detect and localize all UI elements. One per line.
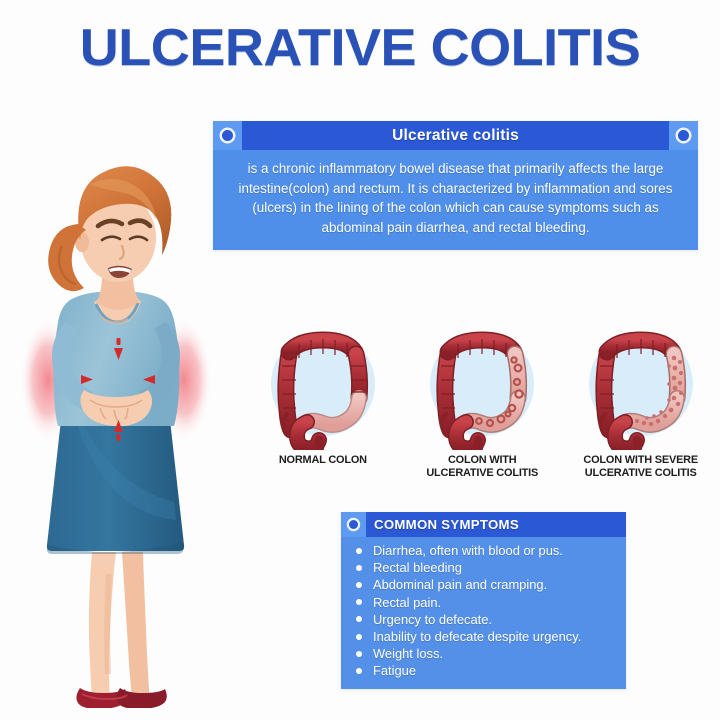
colon-comparison-row: NORMAL COLON	[248, 322, 716, 494]
description-panel-title: Ulcerative colitis	[392, 127, 519, 145]
symptom-text: Abdominal pain and cramping.	[373, 576, 547, 593]
symptom-text: Diarrhea, often with blood or pus.	[373, 542, 563, 559]
colon-illustration-normal	[263, 322, 383, 450]
symptoms-panel-header: COMMON SYMPTOMS	[341, 512, 626, 537]
hair-bun	[48, 224, 86, 291]
description-panel-header: Ulcerative colitis	[213, 121, 698, 150]
colon-illustration-moderate	[422, 322, 542, 450]
common-symptoms-panel: COMMON SYMPTOMS Diarrhea, often with blo…	[341, 512, 626, 689]
page-title: ULCERATIVE COLITIS	[0, 22, 720, 74]
symptom-text: Inability to defecate despite urgency.	[373, 628, 581, 645]
symptom-list-item: Fatigue	[351, 662, 618, 679]
screw-rivet-icon-left	[213, 121, 242, 150]
symptoms-panel-title: COMMON SYMPTOMS	[374, 517, 519, 532]
symptom-list-item: Weight loss.	[351, 645, 618, 662]
colon-label-line1: COLON WITH	[426, 454, 538, 467]
infographic-canvas: ULCERATIVE COLITIS	[0, 0, 720, 720]
symptom-text: Urgency to defecate.	[373, 611, 492, 628]
colon-label-line1: COLON WITH SEVERE	[584, 454, 699, 467]
bullet-icon	[356, 651, 362, 657]
symptom-text: Rectal pain.	[373, 594, 441, 611]
woman-with-abdominal-pain-illustration	[18, 122, 214, 708]
colon-label-moderate: COLON WITH ULCERATIVE COLITIS	[426, 454, 538, 480]
bullet-icon	[356, 548, 362, 554]
bullet-icon	[356, 599, 362, 605]
screw-rivet-icon-right	[669, 121, 698, 150]
colon-label-line1: NORMAL COLON	[279, 454, 367, 467]
symptom-text: Rectal bleeding	[373, 559, 462, 576]
symptom-list-item: Diarrhea, often with blood or pus.	[351, 542, 618, 559]
symptom-text: Weight loss.	[373, 645, 443, 662]
screw-rivet-icon	[341, 512, 366, 537]
bullet-icon	[356, 565, 362, 571]
colon-label-severe: COLON WITH SEVERE ULCERATIVE COLITIS	[584, 454, 699, 480]
symptom-list-item: Urgency to defecate.	[351, 611, 618, 628]
bullet-icon	[356, 616, 362, 622]
description-panel-body: is a chronic inflammatory bowel disease …	[213, 150, 698, 250]
bullet-icon	[356, 668, 362, 674]
colon-label-normal: NORMAL COLON	[279, 454, 367, 467]
colon-figure-moderate: COLON WITH ULCERATIVE COLITIS	[407, 322, 557, 494]
colon-label-line2: ULCERATIVE COLITIS	[584, 467, 699, 480]
symptom-text: Fatigue	[373, 662, 416, 679]
colon-figure-severe: COLON WITH SEVERE ULCERATIVE COLITIS	[566, 322, 716, 494]
description-panel: Ulcerative colitis is a chronic inflamma…	[213, 121, 698, 250]
colon-illustration-severe	[581, 322, 701, 450]
symptom-list-item: Rectal pain.	[351, 594, 618, 611]
bullet-icon	[356, 634, 362, 640]
symptom-list-item: Inability to defecate despite urgency.	[351, 628, 618, 645]
bullet-icon	[356, 582, 362, 588]
colon-label-line2: ULCERATIVE COLITIS	[426, 467, 538, 480]
symptom-list-item: Abdominal pain and cramping.	[351, 576, 618, 593]
colon-figure-normal: NORMAL COLON	[248, 322, 398, 494]
symptoms-list: Diarrhea, often with blood or pus.Rectal…	[341, 537, 626, 689]
symptom-list-item: Rectal bleeding	[351, 559, 618, 576]
